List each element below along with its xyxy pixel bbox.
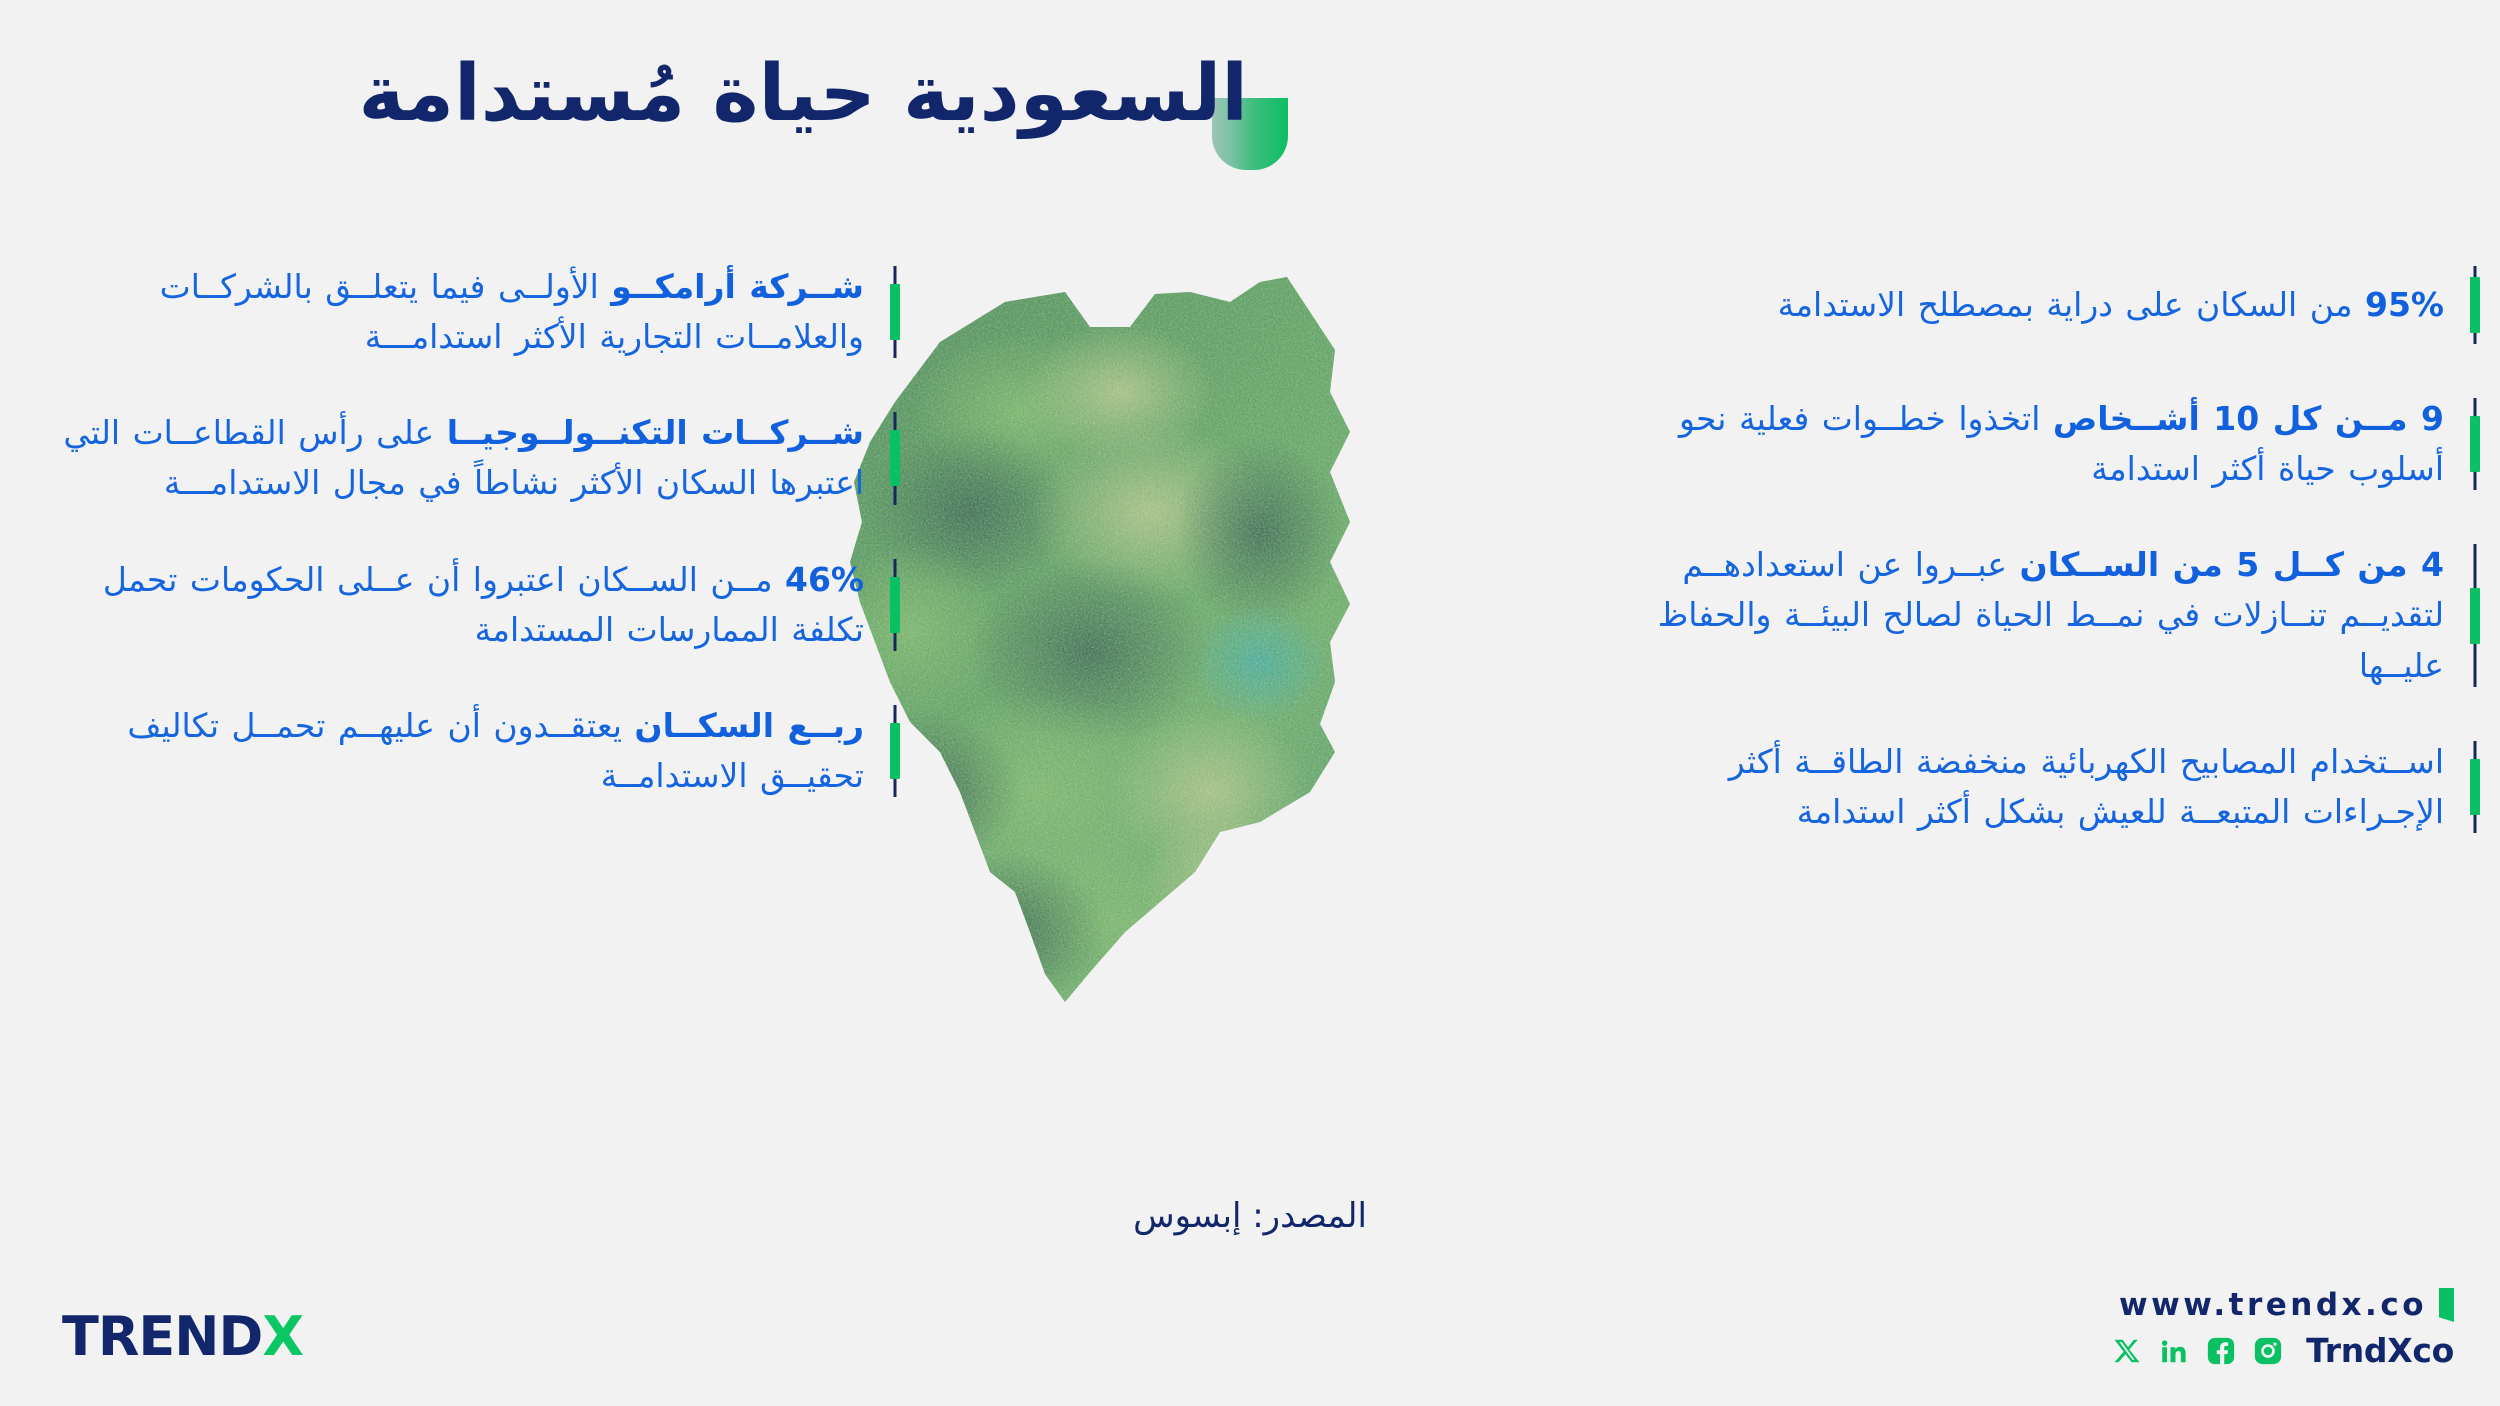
bullet-marker-icon [2470, 394, 2480, 494]
stat-body: مــن الســكان اعتبروا أن عــلى الحكومات … [103, 560, 864, 649]
stat-text: ربــع السكــان يعتقــدون أن عليهــم تحمـ… [20, 701, 864, 801]
stat-highlight: شــركة أرامكــو [611, 267, 864, 306]
saudi-arabia-forest-map [790, 232, 1710, 1182]
stat-text: 95% من السكان على دراية بمصطلح الاستدامة [1600, 280, 2444, 330]
stat-highlight: 9 مــن كل 10 أشــخاص [2053, 399, 2444, 438]
facebook-icon[interactable] [2204, 1334, 2238, 1368]
stat-highlight: 46% [785, 560, 864, 599]
stat-highlight: شــركــات التكنــولــوجيــا [447, 413, 864, 452]
stat-body: اســتخدام المصابيح الكهربائية منخفضة الط… [1729, 742, 2444, 831]
source-label: المصدر: إبسوس [1133, 1196, 1367, 1236]
logo-text: TRENDX [62, 1305, 303, 1368]
bullet-marker-icon [890, 408, 900, 508]
social-footer: www.trendx.co TrndXco [2110, 1287, 2454, 1370]
title-band: السعودية حياة مُستدامة [1212, 98, 1288, 170]
logo-accent: X [262, 1305, 303, 1368]
stat-text: شــركة أرامكــو الأولــى فيما يتعلــق با… [20, 262, 864, 362]
stat-text: 4 من كــل 5 من الســكان عبــروا عن استعد… [1600, 540, 2444, 690]
flag-icon [2439, 1288, 2454, 1322]
list-item: اســتخدام المصابيح الكهربائية منخفضة الط… [1600, 737, 2480, 837]
bullet-marker-icon [890, 555, 900, 655]
bullet-marker-icon [2470, 737, 2480, 837]
list-item: شــركــات التكنــولــوجيــا على رأس القط… [20, 408, 900, 508]
stat-highlight: 95% [2365, 285, 2444, 324]
handle-row: TrndXco [2110, 1331, 2454, 1370]
social-handle[interactable]: TrndXco [2306, 1331, 2454, 1370]
page-header: السعودية حياة مُستدامة [0, 56, 2500, 176]
stats-column-right: 95% من السكان على دراية بمصطلح الاستدامة… [1600, 262, 2480, 883]
stats-column-left: شــركة أرامكــو الأولــى فيما يتعلــق با… [20, 262, 900, 847]
list-item: 9 مــن كل 10 أشــخاص اتخذوا خطــوات فعلي… [1600, 394, 2480, 494]
website-url[interactable]: www.trendx.co [2119, 1287, 2427, 1323]
list-item: 4 من كــل 5 من الســكان عبــروا عن استعد… [1600, 540, 2480, 690]
stat-text: 46% مــن الســكان اعتبروا أن عــلى الحكو… [20, 555, 864, 655]
bullet-marker-icon [890, 701, 900, 801]
stat-body: من السكان على دراية بمصطلح الاستدامة [1778, 285, 2365, 324]
stat-text: شــركــات التكنــولــوجيــا على رأس القط… [20, 408, 864, 508]
bullet-marker-icon [2470, 540, 2480, 690]
logo-main: TREND [62, 1305, 262, 1368]
stat-highlight: 4 من كــل 5 من الســكان [2020, 545, 2444, 584]
stat-text: اســتخدام المصابيح الكهربائية منخفضة الط… [1600, 737, 2444, 837]
bullet-marker-icon [890, 262, 900, 362]
x-icon[interactable] [2110, 1334, 2144, 1368]
trendx-logo: TRENDX [62, 1305, 303, 1368]
list-item: 95% من السكان على دراية بمصطلح الاستدامة [1600, 262, 2480, 348]
bullet-marker-icon [2470, 262, 2480, 348]
linkedin-icon[interactable] [2157, 1334, 2191, 1368]
instagram-icon[interactable] [2251, 1334, 2285, 1368]
list-item: 46% مــن الســكان اعتبروا أن عــلى الحكو… [20, 555, 900, 655]
page-title: السعودية حياة مُستدامة [358, 54, 1248, 136]
website-row[interactable]: www.trendx.co [2110, 1287, 2454, 1323]
list-item: ربــع السكــان يعتقــدون أن عليهــم تحمـ… [20, 701, 900, 801]
stat-highlight: ربــع السكــان [634, 706, 864, 745]
stat-text: 9 مــن كل 10 أشــخاص اتخذوا خطــوات فعلي… [1600, 394, 2444, 494]
list-item: شــركة أرامكــو الأولــى فيما يتعلــق با… [20, 262, 900, 362]
